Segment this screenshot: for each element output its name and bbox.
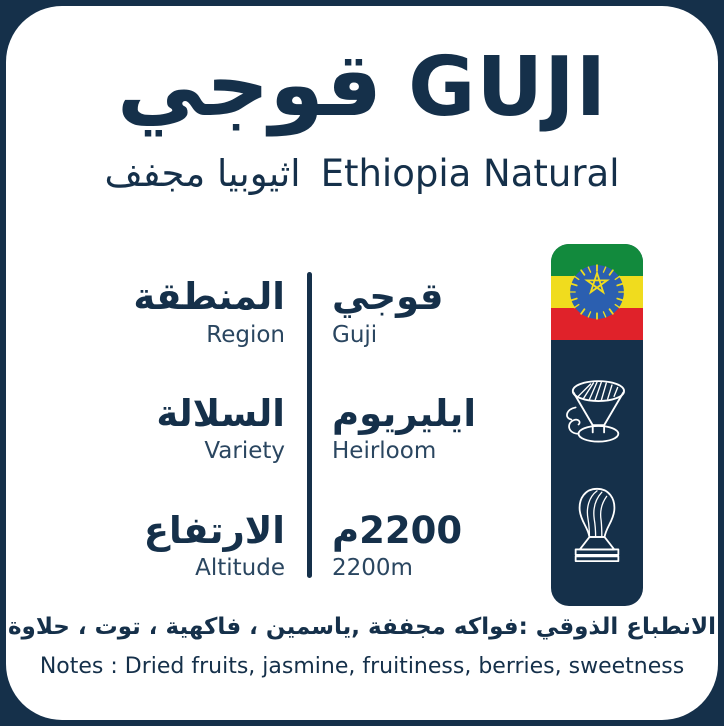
spec-value-altitude-arabic: 2200م bbox=[332, 510, 462, 553]
coffee-tamper-icon bbox=[566, 484, 628, 568]
spec-label-altitude-english: Altitude bbox=[195, 554, 285, 584]
spec-value-region-arabic: قوجي bbox=[332, 276, 444, 319]
product-title: قوجي GUJI bbox=[6, 40, 718, 130]
tasting-notes-arabic: الانطباع الذوقي :فواكه مجففة ,ياسمين ، ف… bbox=[6, 612, 718, 643]
tasting-notes: الانطباع الذوقي :فواكه مجففة ,ياسمين ، ف… bbox=[6, 612, 718, 682]
product-subtitle-arabic: اثيوبيا مجفف bbox=[105, 152, 301, 195]
ethiopia-flag-icon bbox=[551, 244, 643, 340]
product-subtitle-english: Ethiopia Natural bbox=[321, 152, 620, 195]
product-title-arabic: قوجي bbox=[117, 40, 382, 130]
spec-value-altitude: 2200م 2200m bbox=[332, 510, 462, 584]
spec-label-region-arabic: المنطقة bbox=[133, 276, 285, 319]
spec-value-region-english: Guji bbox=[332, 321, 377, 351]
spec-value-variety-arabic: ايليريوم bbox=[332, 393, 476, 436]
ethiopia-star-emblem-icon bbox=[569, 264, 625, 320]
spec-value-variety: ايليريوم Heirloom bbox=[332, 393, 476, 467]
spec-label-variety-english: Variety bbox=[204, 437, 285, 467]
coffee-label-card: قوجي GUJI اثيوبيا مجفف Ethiopia Natural … bbox=[6, 6, 718, 720]
spec-label-altitude: الارتفاع Altitude bbox=[144, 510, 285, 584]
product-subtitle: اثيوبيا مجفف Ethiopia Natural bbox=[6, 152, 718, 195]
spec-label-variety: السلالة Variety bbox=[156, 393, 285, 467]
spec-label-region-english: Region bbox=[206, 321, 285, 351]
icon-rail bbox=[551, 244, 643, 606]
spec-table: قوجي Guji ايليريوم Heirloom 2200م 2200m … bbox=[92, 268, 534, 588]
v60-dripper-icon bbox=[561, 374, 633, 448]
spec-divider bbox=[307, 272, 312, 578]
spec-value-variety-english: Heirloom bbox=[332, 437, 436, 467]
spec-value-region: قوجي Guji bbox=[332, 276, 444, 350]
spec-label-column: المنطقة Region السلالة Variety الارتفاع … bbox=[111, 268, 307, 588]
spec-value-altitude-english: 2200m bbox=[332, 554, 413, 584]
product-title-english: GUJI bbox=[408, 46, 607, 130]
tasting-notes-english: Notes : Dried fruits, jasmine, fruitines… bbox=[6, 652, 718, 682]
spec-label-variety-arabic: السلالة bbox=[156, 393, 285, 436]
spec-label-altitude-arabic: الارتفاع bbox=[144, 510, 285, 553]
spec-label-region: المنطقة Region bbox=[133, 276, 285, 350]
label-header: قوجي GUJI اثيوبيا مجفف Ethiopia Natural bbox=[6, 40, 718, 195]
spec-value-column: قوجي Guji ايليريوم Heirloom 2200م 2200m bbox=[312, 268, 534, 588]
